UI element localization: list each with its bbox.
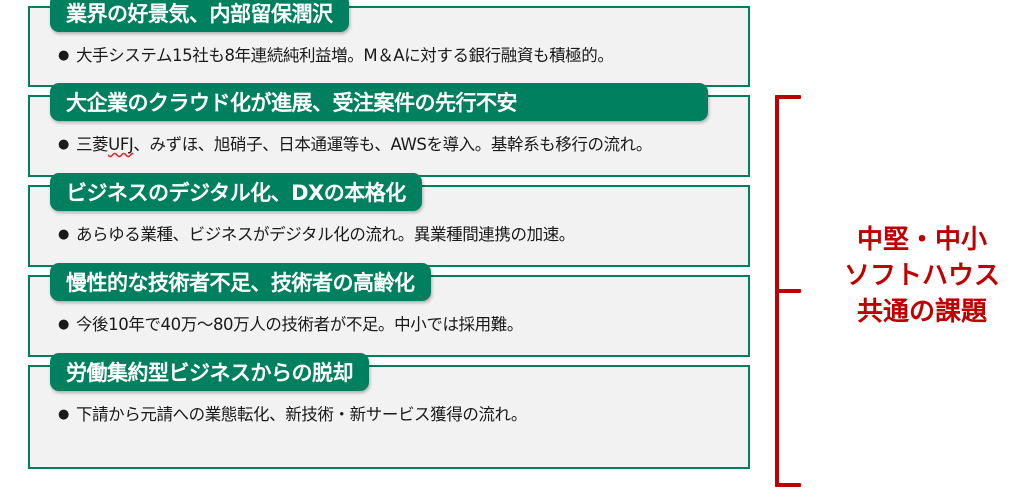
bullet-text: 下請から元請への業態転化、新技術・新サービス獲得の流れ。 bbox=[76, 401, 527, 425]
callout-line-1: 中堅・中小 bbox=[820, 222, 1024, 258]
callout-line-3: 共通の課題 bbox=[820, 294, 1024, 330]
bracket-tick-top bbox=[775, 95, 801, 99]
issue-card: 慢性的な技術者不足、技術者の高齢化 ● 今後10年で40万〜80万人の技術者が不… bbox=[28, 275, 750, 357]
bracket-tick-bottom bbox=[775, 483, 801, 487]
callout-line-2: ソフトハウス bbox=[820, 258, 1024, 294]
bullet-text: 今後10年で40万〜80万人の技術者が不足。中小では採用難。 bbox=[76, 311, 523, 335]
issue-card-heading: 大企業のクラウド化が進展、受注案件の先行不安 bbox=[50, 83, 708, 121]
bullet-dot-icon: ● bbox=[58, 318, 69, 331]
bullet-item: ● 大手システム15社も8年連続純利益増。M＆Aに対する銀行融資も積極的。 bbox=[58, 42, 738, 66]
issue-card-list: 業界の好景気、内部留保潤沢 ● 大手システム15社も8年連続純利益増。M＆Aに対… bbox=[28, 6, 750, 477]
bullet-text: 大手システム15社も8年連続純利益増。M＆Aに対する銀行融資も積極的。 bbox=[76, 42, 614, 66]
bullet-item: ● 今後10年で40万〜80万人の技術者が不足。中小では採用難。 bbox=[58, 311, 738, 335]
bullet-item: ● 三菱UFJ、みずほ、旭硝子、日本通運等も、AWSを導入。基幹系も移行の流れ。 bbox=[58, 131, 738, 155]
bullet-text: あらゆる業種、ビジネスがデジタル化の流れ。異業種間連携の加速。 bbox=[76, 221, 575, 245]
spellcheck-flagged-word: UFJ bbox=[108, 135, 133, 154]
issue-card: 労働集約型ビジネスからの脱却 ● 下請から元請への業態転化、新技術・新サービス獲… bbox=[28, 365, 750, 469]
issue-card-heading: ビジネスのデジタル化、DXの本格化 bbox=[50, 173, 422, 211]
issue-card-heading: 労働集約型ビジネスからの脱却 bbox=[50, 353, 369, 391]
bullet-dot-icon: ● bbox=[58, 138, 69, 151]
bracket-tick-middle bbox=[775, 289, 801, 293]
slide-canvas: 業界の好景気、内部留保潤沢 ● 大手システム15社も8年連続純利益増。M＆Aに対… bbox=[0, 0, 1024, 495]
issue-card: ビジネスのデジタル化、DXの本格化 ● あらゆる業種、ビジネスがデジタル化の流れ… bbox=[28, 185, 750, 267]
callout-label: 中堅・中小 ソフトハウス 共通の課題 bbox=[820, 222, 1024, 330]
issue-card-heading: 業界の好景気、内部留保潤沢 bbox=[50, 0, 349, 32]
bullet-item: ● 下請から元請への業態転化、新技術・新サービス獲得の流れ。 bbox=[58, 401, 738, 425]
bullet-text: 三菱UFJ、みずほ、旭硝子、日本通運等も、AWSを導入。基幹系も移行の流れ。 bbox=[76, 131, 652, 155]
bullet-dot-icon: ● bbox=[58, 49, 69, 62]
grouping-bracket-icon bbox=[775, 95, 805, 487]
issue-card: 業界の好景気、内部留保潤沢 ● 大手システム15社も8年連続純利益増。M＆Aに対… bbox=[28, 6, 750, 87]
bullet-text-suffix: 、みずほ、旭硝子、日本通運等も、AWSを導入。基幹系も移行の流れ。 bbox=[133, 135, 652, 154]
issue-card: 大企業のクラウド化が進展、受注案件の先行不安 ● 三菱UFJ、みずほ、旭硝子、日… bbox=[28, 95, 750, 177]
bullet-item: ● あらゆる業種、ビジネスがデジタル化の流れ。異業種間連携の加速。 bbox=[58, 221, 738, 245]
bullet-dot-icon: ● bbox=[58, 228, 69, 241]
bullet-text-prefix: 三菱 bbox=[76, 135, 108, 154]
bullet-dot-icon: ● bbox=[58, 408, 69, 421]
issue-card-heading: 慢性的な技術者不足、技術者の高齢化 bbox=[50, 263, 431, 301]
